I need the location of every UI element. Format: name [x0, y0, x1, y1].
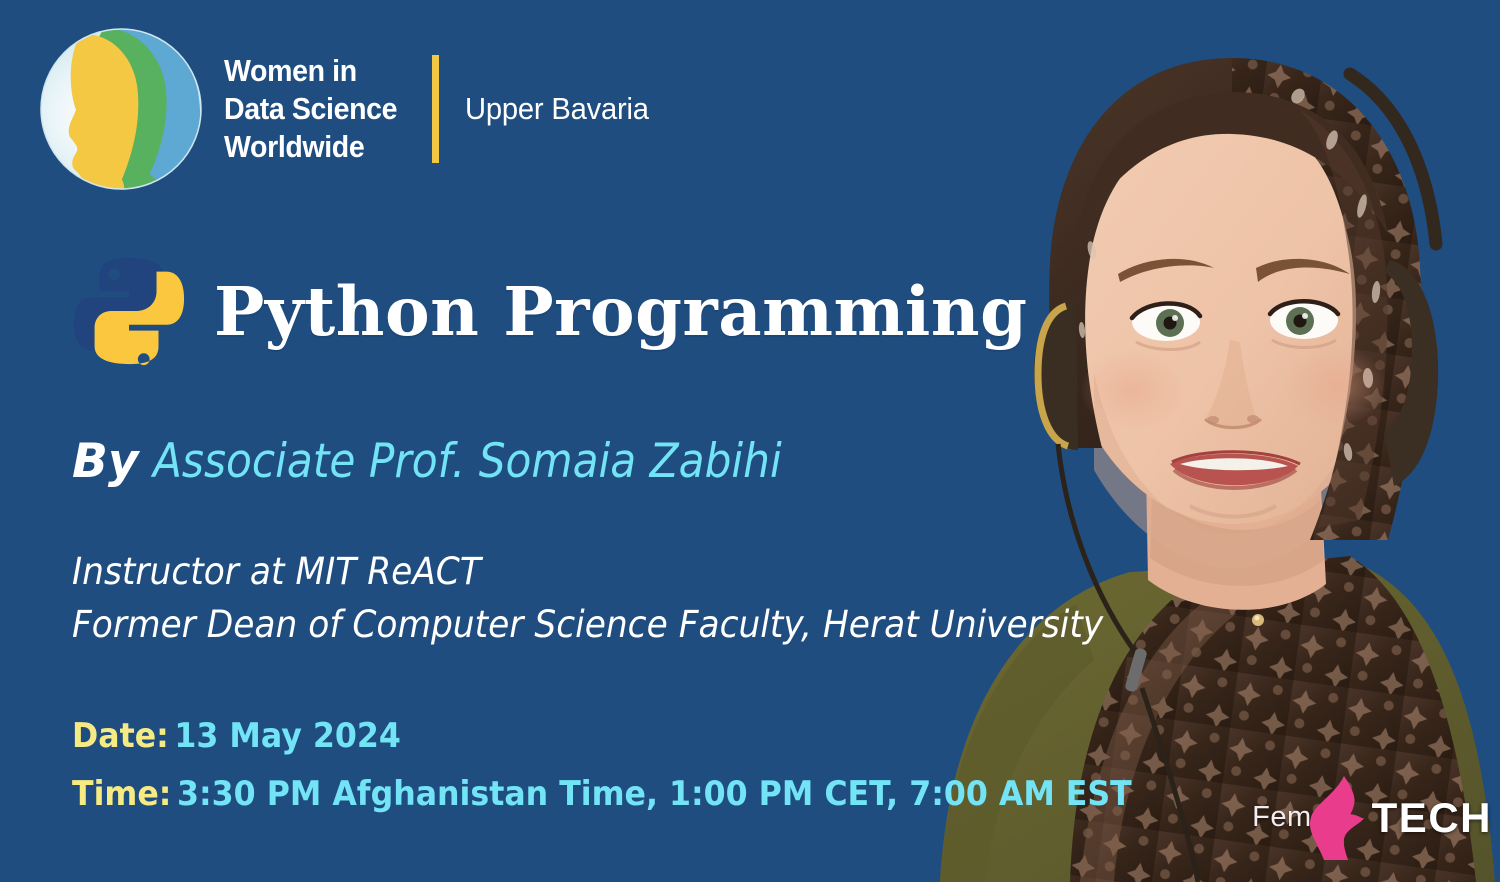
femtech-logo: Fem TECH	[1252, 774, 1492, 856]
speaker-roles: Instructor at MIT ReACT Former Dean of C…	[72, 546, 1181, 651]
byline-prefix: By	[72, 434, 138, 489]
speaker-role-primary: Instructor at MIT ReACT	[72, 546, 1103, 599]
female-profile-silhouette-icon	[1308, 774, 1370, 860]
event-date-value: 13 May 2024	[174, 716, 400, 756]
femtech-fem-text: Fem	[1252, 801, 1312, 834]
wids-divider	[432, 55, 439, 163]
speaker-name: Associate Prof. Somaia Zabihi	[153, 438, 782, 485]
event-title-row: Python Programming	[70, 252, 1027, 370]
femtech-tech-text: TECH	[1372, 794, 1492, 842]
python-logo	[70, 252, 188, 370]
speaker-role-secondary: Former Dean of Computer Science Faculty,…	[72, 599, 1103, 652]
event-date-label: Date:	[72, 716, 169, 756]
event-announcement-poster: Women in Data Science Worldwide Upper Ba…	[0, 0, 1500, 882]
event-time-value: 3:30 PM Afghanistan Time, 1:00 PM CET, 7…	[177, 774, 1132, 814]
wids-globe-faces-logo	[30, 18, 212, 200]
wids-chapter-text: Upper Bavaria	[465, 91, 649, 127]
wids-name-text: Women in Data Science Worldwide	[224, 52, 397, 165]
speaker-byline: By Associate Prof. Somaia Zabihi	[72, 438, 852, 485]
event-time-row: Time:3:30 PM Afghanistan Time, 1:00 PM C…	[72, 766, 1132, 824]
wids-logo: Women in Data Science Worldwide Upper Ba…	[30, 18, 661, 200]
event-date-row: Date:13 May 2024	[72, 708, 1132, 766]
event-schedule: Date:13 May 2024 Time:3:30 PM Afghanista…	[72, 708, 1212, 824]
event-time-label: Time:	[72, 774, 171, 814]
page-title: Python Programming	[214, 272, 1027, 351]
